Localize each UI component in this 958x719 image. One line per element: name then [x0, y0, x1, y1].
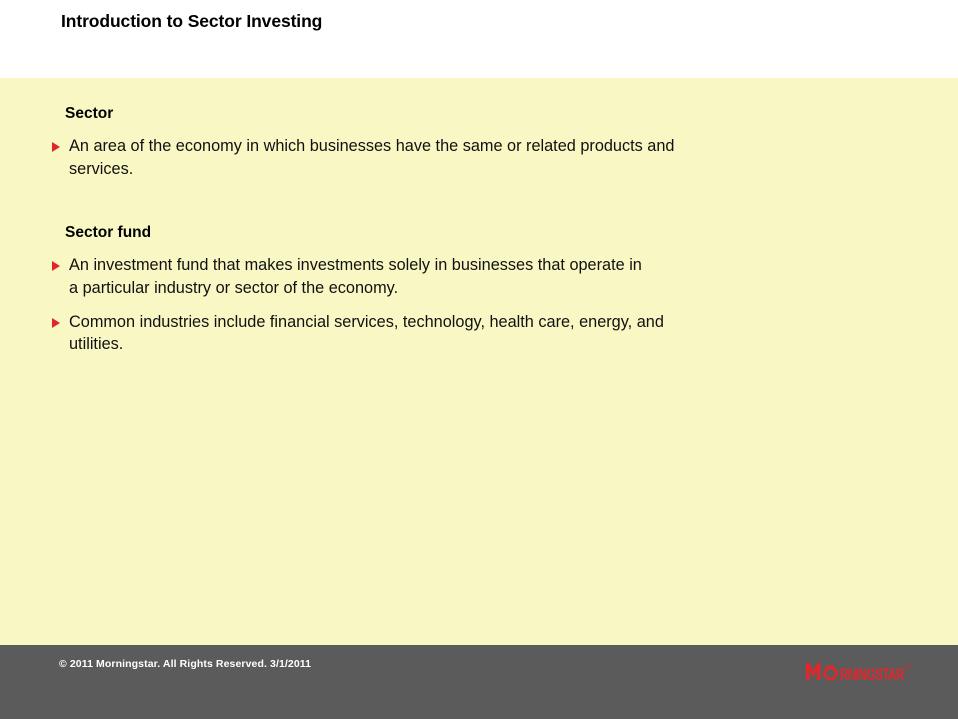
morningstar-logo: RNINGSTAR ®: [806, 661, 918, 683]
list-item-line: Common industries include financial serv…: [69, 313, 664, 331]
list-item-text: An investment fund that makes investment…: [69, 254, 899, 299]
triangle-bullet-icon: [52, 318, 60, 328]
triangle-bullet-icon: [52, 261, 60, 271]
definition-heading: Sector fund: [65, 223, 912, 242]
list-item: Common industries include financial serv…: [52, 311, 912, 356]
registered-trademark-icon: ®: [906, 663, 912, 671]
list-item-line: utilities.: [69, 333, 899, 355]
list-item-text: Common industries include financial serv…: [69, 311, 899, 356]
list-item-line: An investment fund that makes investment…: [69, 256, 642, 274]
section-spacer: [52, 180, 912, 223]
slide-canvas: Introduction to Sector Investing Sector …: [0, 0, 958, 719]
page-title: Introduction to Sector Investing: [61, 11, 322, 32]
copyright-text: © 2011 Morningstar. All Rights Reserved.…: [59, 658, 311, 670]
triangle-bullet-icon: [52, 142, 60, 152]
list-item-line: An area of the economy in which business…: [69, 137, 674, 155]
list-item-line: services.: [69, 158, 899, 180]
definition-heading: Sector: [65, 104, 912, 123]
logo-wordmark: RNINGSTAR: [840, 666, 904, 683]
content-column: Sector An area of the economy in which b…: [52, 104, 912, 356]
definition-block-sector-fund: Sector fund An investment fund that make…: [52, 223, 912, 356]
list-item-text: An area of the economy in which business…: [69, 135, 899, 180]
slide-body: Sector An area of the economy in which b…: [0, 78, 958, 645]
list-item: An area of the economy in which business…: [52, 135, 912, 180]
list-item: An investment fund that makes investment…: [52, 254, 912, 299]
list-item-line: a particular industry or sector of the e…: [69, 277, 899, 299]
definition-block-sector: Sector An area of the economy in which b…: [52, 104, 912, 180]
slide-header: Introduction to Sector Investing: [0, 0, 958, 78]
